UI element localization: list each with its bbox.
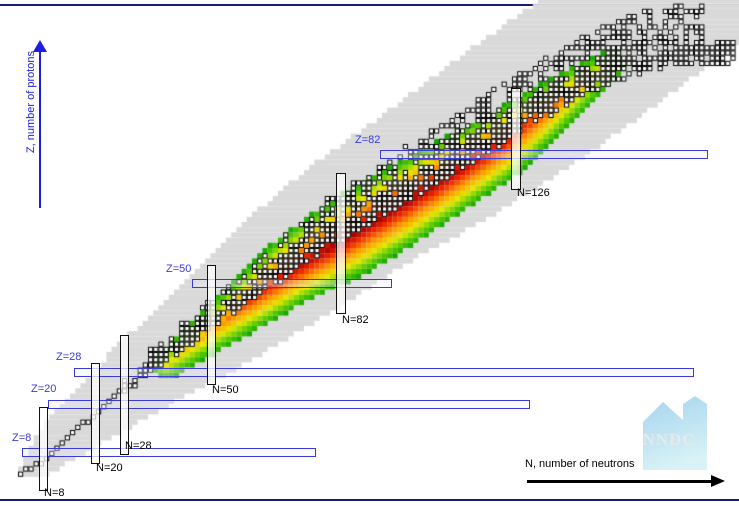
magic-neutron-band-n50 — [207, 265, 216, 385]
magic-neutron-band-n82 — [336, 173, 346, 314]
magic-neutron-label-n20: N=20 — [96, 462, 123, 474]
magic-proton-label-z8: Z=8 — [12, 432, 31, 444]
magic-neutron-band-n8 — [39, 407, 48, 491]
watermark-label: NNDC — [627, 430, 711, 450]
magic-proton-label-z20: Z=20 — [31, 383, 56, 395]
magic-proton-band-z82 — [380, 150, 708, 159]
y-axis-line — [39, 50, 41, 208]
y-axis-label: Z, number of protons — [25, 17, 37, 187]
x-axis-group: N, number of neutrons — [525, 458, 735, 490]
magic-neutron-band-n126 — [511, 88, 521, 190]
magic-proton-band-z50 — [192, 279, 392, 288]
magic-neutron-label-n8: N=8 — [44, 487, 65, 499]
magic-neutron-label-n82: N=82 — [342, 314, 369, 326]
magic-proton-band-z28 — [74, 368, 694, 377]
magic-neutron-band-n28 — [120, 335, 129, 455]
magic-neutron-band-n20 — [91, 363, 100, 464]
y-axis-group: Z, number of protons — [8, 36, 48, 211]
magic-neutron-label-n28: N=28 — [125, 440, 152, 452]
magic-neutron-label-n50: N=50 — [212, 384, 239, 396]
x-axis-arrow-icon — [711, 475, 725, 487]
x-axis-line — [527, 480, 713, 483]
nuclide-chart-figure: NNDC Z=8Z=20Z=28Z=50Z=82N=8N=20N=28N=50N… — [0, 0, 739, 506]
magic-proton-label-z28: Z=28 — [56, 351, 81, 363]
magic-proton-band-z8 — [22, 448, 316, 457]
magic-neutron-label-n126: N=126 — [517, 187, 550, 199]
magic-proton-label-z82: Z=82 — [355, 134, 380, 146]
bottom-border-rule — [0, 499, 739, 501]
magic-proton-label-z50: Z=50 — [166, 263, 191, 275]
x-axis-label: N, number of neutrons — [525, 458, 634, 470]
